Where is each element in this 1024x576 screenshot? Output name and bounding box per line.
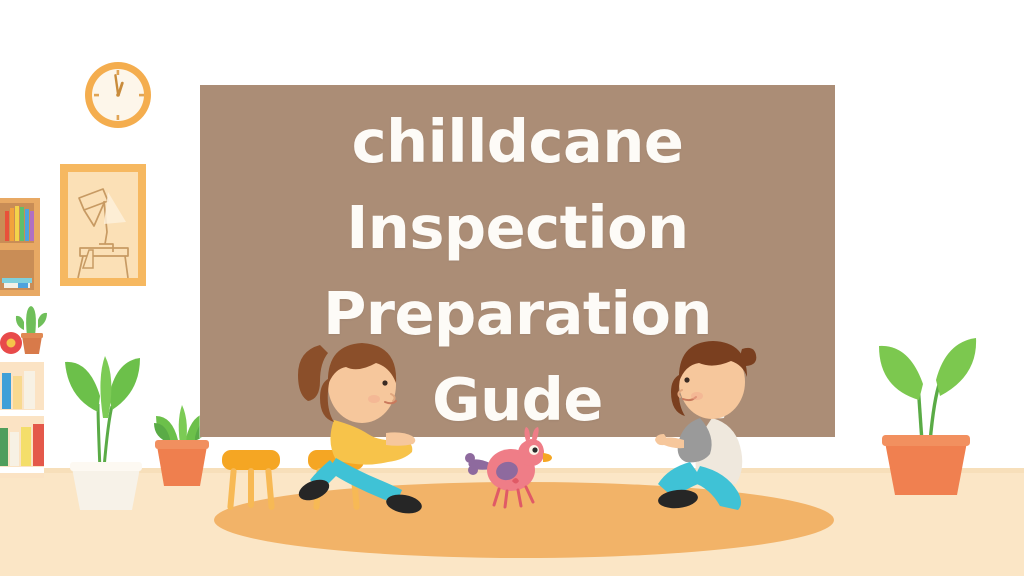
girl-eye: [382, 380, 387, 385]
characters-layer: [0, 0, 1024, 576]
boy-shoe: [657, 488, 699, 510]
illustration-canvas: chilldcane Inspection Preparation Gude: [0, 0, 1024, 576]
boy-eye: [684, 377, 689, 382]
boy-sitting[interactable]: [655, 341, 756, 510]
toy-bird[interactable]: [465, 427, 552, 507]
girl-sitting[interactable]: [296, 343, 423, 516]
